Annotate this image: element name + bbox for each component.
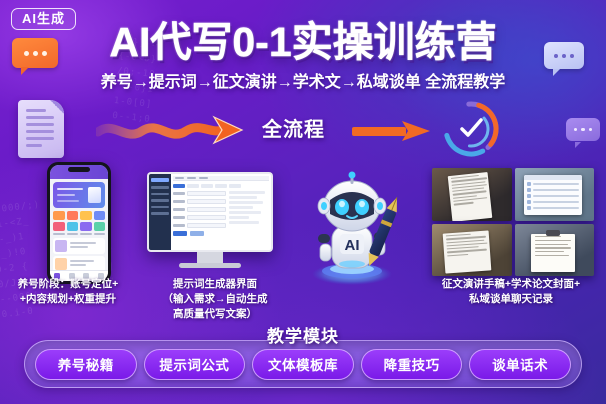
process-label: 全流程 xyxy=(262,113,325,142)
photo-essay-manuscript xyxy=(432,168,512,221)
svg-text:AI: AI xyxy=(345,237,360,254)
module-pill-1[interactable]: 提示词公式 xyxy=(144,349,246,380)
photo-checklist-laptop xyxy=(515,224,595,277)
caption-monitor: 提示词生成器界面 （输入需求→自动生成 高质量代写文案） xyxy=(140,277,290,322)
module-pill-0[interactable]: 养号秘籍 xyxy=(35,349,137,380)
module-pill-2[interactable]: 文体模板库 xyxy=(252,349,354,380)
page-subtitle: 养号→提示词→征文演讲→学术文→私域谈单 全流程教学 xyxy=(0,68,606,92)
page-title: AI代写0-1实操训练营 xyxy=(0,22,606,64)
document-icon xyxy=(18,100,64,158)
photo-collage xyxy=(432,168,594,276)
photo-chat-window xyxy=(515,168,595,221)
poster-canvas: 0--000/;) 0.i-<Z_ //-_)1 '-_)!0 RD-2 { '… xyxy=(0,0,606,404)
progress-ring-check-icon xyxy=(440,98,502,160)
desktop-monitor-mockup xyxy=(147,172,273,272)
caption-photos: 征文演讲手稿+学术论文封面+ 私域谈单聊天记录 xyxy=(418,277,604,307)
wavy-arrow-icon xyxy=(96,112,256,148)
ai-robot-mascot: AI xyxy=(296,168,408,286)
module-pill-4[interactable]: 谈单话术 xyxy=(469,349,571,380)
module-pill-3[interactable]: 降重技巧 xyxy=(361,349,463,380)
caption-phone: 养号阶段：账号定位+ +内容规划+权重提升 xyxy=(2,277,134,307)
photo-clipboard-document xyxy=(432,224,512,277)
modules-bar: 养号秘籍 提示词公式 文体模板库 降重技巧 谈单话术 xyxy=(24,340,582,388)
modules-title: 教学模块 xyxy=(0,322,606,347)
chat-bubble-icon-purple xyxy=(566,118,600,141)
phone-mockup xyxy=(47,162,111,284)
arrow-right-icon xyxy=(352,119,432,143)
